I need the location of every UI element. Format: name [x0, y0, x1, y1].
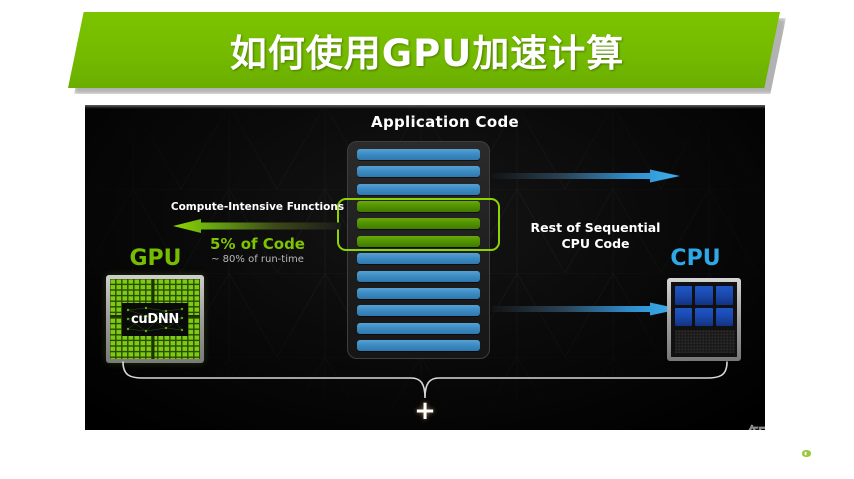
- curly-brace-bottom-icon: [115, 360, 735, 400]
- cpu-chip-icon: [667, 278, 741, 361]
- cpu-core: [695, 308, 712, 327]
- arrow-right-blue-top-icon: [492, 169, 680, 183]
- application-code-stack: [347, 141, 490, 359]
- code-bar: [357, 149, 480, 160]
- code-bar: [357, 323, 480, 334]
- cpu-core: [695, 286, 712, 305]
- page-title: 如何使用GPU加速计算: [68, 12, 780, 88]
- cpu-pad-grid: [675, 330, 735, 353]
- slide-root: 如何使用GPU加速计算 Application Code: [0, 0, 854, 479]
- arrow-right-blue-bottom-icon: [492, 302, 680, 316]
- code-bar-compute-intensive: [357, 218, 480, 229]
- watermark-domain: zhidx.com: [748, 449, 798, 458]
- gpu-die: cuDNN: [110, 279, 200, 359]
- gpu-chip-icon: cuDNN: [106, 275, 204, 363]
- code-bar: [357, 271, 480, 282]
- diagram-panel: Application Code Compute-Intensive Funct…: [85, 105, 765, 430]
- cudnn-badge: cuDNN: [122, 303, 188, 336]
- code-bar: [357, 288, 480, 299]
- application-code-title: Application Code: [345, 113, 545, 131]
- code-bar: [357, 340, 480, 351]
- cpu-die: [671, 282, 737, 357]
- cpu-core: [716, 286, 733, 305]
- cpu-label: CPU: [643, 246, 748, 271]
- compute-intensive-functions-label: Compute-Intensive Functions: [170, 201, 345, 213]
- watermark-logo-glyphs: 智东西: [748, 424, 852, 448]
- title-banner: 如何使用GPU加速计算: [68, 12, 786, 92]
- code-bar: [357, 184, 480, 195]
- cpu-core: [716, 308, 733, 327]
- gpu-label: GPU: [103, 246, 208, 271]
- nvidia-wordmark: NVIDIA.: [814, 449, 852, 458]
- code-bar-compute-intensive: [357, 201, 480, 212]
- code-bar: [357, 166, 480, 177]
- nvidia-logo-icon: NVIDIA.: [801, 449, 852, 458]
- cpu-core: [675, 286, 692, 305]
- rest-label-line-1: Rest of Sequential: [513, 220, 678, 236]
- code-bar: [357, 305, 480, 316]
- watermark-bottom-row: zhidx.com NVIDIA.: [748, 449, 852, 458]
- cudnn-label: cuDNN: [131, 312, 179, 327]
- code-bar: [357, 253, 480, 264]
- cpu-core: [675, 308, 692, 327]
- code-bar-compute-intensive: [357, 236, 480, 247]
- nvidia-eye-icon: [801, 449, 812, 458]
- cpu-core-grid: [675, 286, 733, 326]
- arrow-left-green-icon: [173, 218, 341, 234]
- plus-sign: +: [385, 396, 465, 426]
- watermark: 智东西 zhidx.com NVIDIA.: [748, 424, 852, 474]
